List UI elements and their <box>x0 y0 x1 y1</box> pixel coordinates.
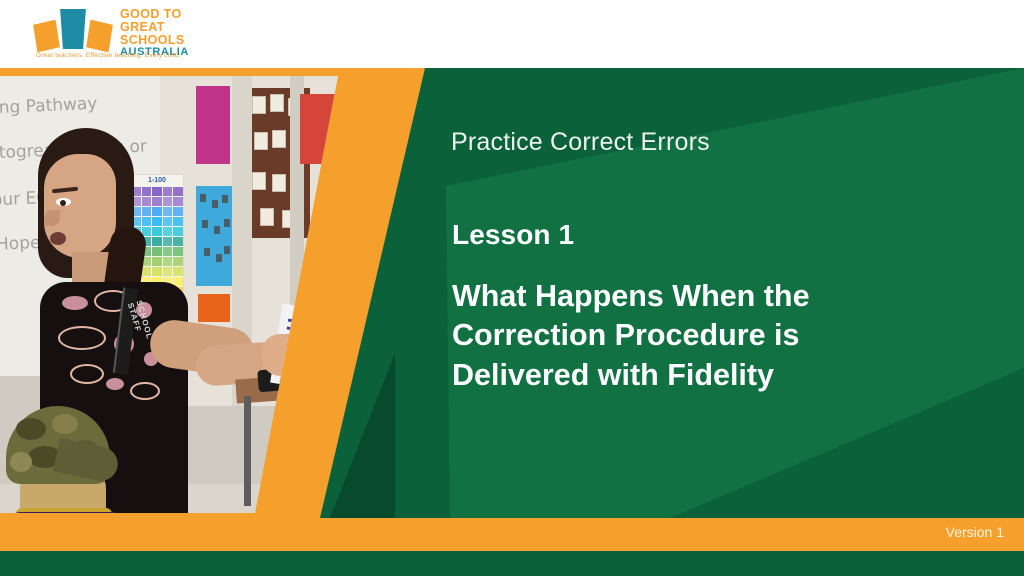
number-chart-cell <box>163 237 172 246</box>
logo-cups-icon <box>34 6 112 50</box>
number-chart-cell <box>152 217 161 226</box>
number-chart-row <box>131 186 183 196</box>
number-chart-cell <box>173 257 182 266</box>
slide-title: What Happens When the Correction Procedu… <box>452 277 912 395</box>
number-chart-cell <box>163 247 172 256</box>
number-chart-cell <box>142 187 151 196</box>
number-chart-cell <box>152 197 161 206</box>
number-chart-cell <box>142 267 151 276</box>
number-chart-cell <box>173 207 182 216</box>
number-chart-cell <box>152 187 161 196</box>
slide-root: ing Pathway dtogreatschools or our EQ em… <box>0 0 1024 576</box>
number-chart-cell <box>173 267 182 276</box>
number-chart-cell <box>142 207 151 216</box>
number-chart-cell <box>142 217 151 226</box>
number-chart-cell <box>173 247 182 256</box>
number-chart-cell <box>173 237 182 246</box>
number-chart-cell <box>142 197 151 206</box>
logo-line-3: SCHOOLS <box>120 34 224 47</box>
number-chart-cell <box>173 187 182 196</box>
number-chart-cell <box>173 217 182 226</box>
number-chart-cell <box>163 257 172 266</box>
lesson-label: Lesson 1 <box>452 219 574 251</box>
number-chart-cell <box>152 257 161 266</box>
number-chart-cell <box>173 277 182 286</box>
number-chart-cell <box>173 227 182 236</box>
number-chart-cell <box>152 237 161 246</box>
logo-tagline: Great teachers. Effective teaching. Ever… <box>36 52 226 59</box>
number-chart-row <box>131 206 183 216</box>
slide-kicker: Practice Correct Errors <box>451 128 710 157</box>
gtgs-logo: GOOD TO GREAT SCHOOLS AUSTRALIA Great te… <box>24 4 224 66</box>
version-label: Version 1 <box>946 524 1004 540</box>
number-chart-cell <box>163 207 172 216</box>
logo-wordmark: GOOD TO GREAT SCHOOLS AUSTRALIA <box>120 8 224 58</box>
photo-student-shirt <box>10 512 122 513</box>
footer-green-bar <box>0 551 1024 576</box>
photo-poster-pink <box>196 86 230 164</box>
photo-teacher-pupil <box>60 200 66 206</box>
header-bar: GOOD TO GREAT SCHOOLS AUSTRALIA Great te… <box>0 0 1024 68</box>
number-chart-cell <box>152 207 161 216</box>
photo-poster-orange <box>198 294 230 322</box>
whiteboard-line-1: ing Pathway <box>0 94 98 118</box>
number-chart-cell <box>152 227 161 236</box>
logo-line-2: GREAT <box>120 21 224 34</box>
number-chart-cell <box>152 247 161 256</box>
photo-desk-leg <box>244 396 251 506</box>
number-chart-cell <box>173 197 182 206</box>
number-chart-cell <box>163 187 172 196</box>
number-chart-label: 1-100 <box>131 175 183 186</box>
photo-teacher-mouth <box>50 232 66 245</box>
photo-teacher-nose <box>44 210 60 226</box>
number-chart-cell <box>163 217 172 226</box>
number-chart-row <box>131 216 183 226</box>
footer-orange-bar <box>0 518 1024 551</box>
number-chart-cell <box>163 197 172 206</box>
number-chart-row <box>131 196 183 206</box>
logo-line-1: GOOD TO <box>120 8 224 21</box>
number-chart-cell <box>152 267 161 276</box>
photo-poster-blue <box>196 186 232 286</box>
number-chart-cell <box>163 267 172 276</box>
number-chart-cell <box>163 227 172 236</box>
